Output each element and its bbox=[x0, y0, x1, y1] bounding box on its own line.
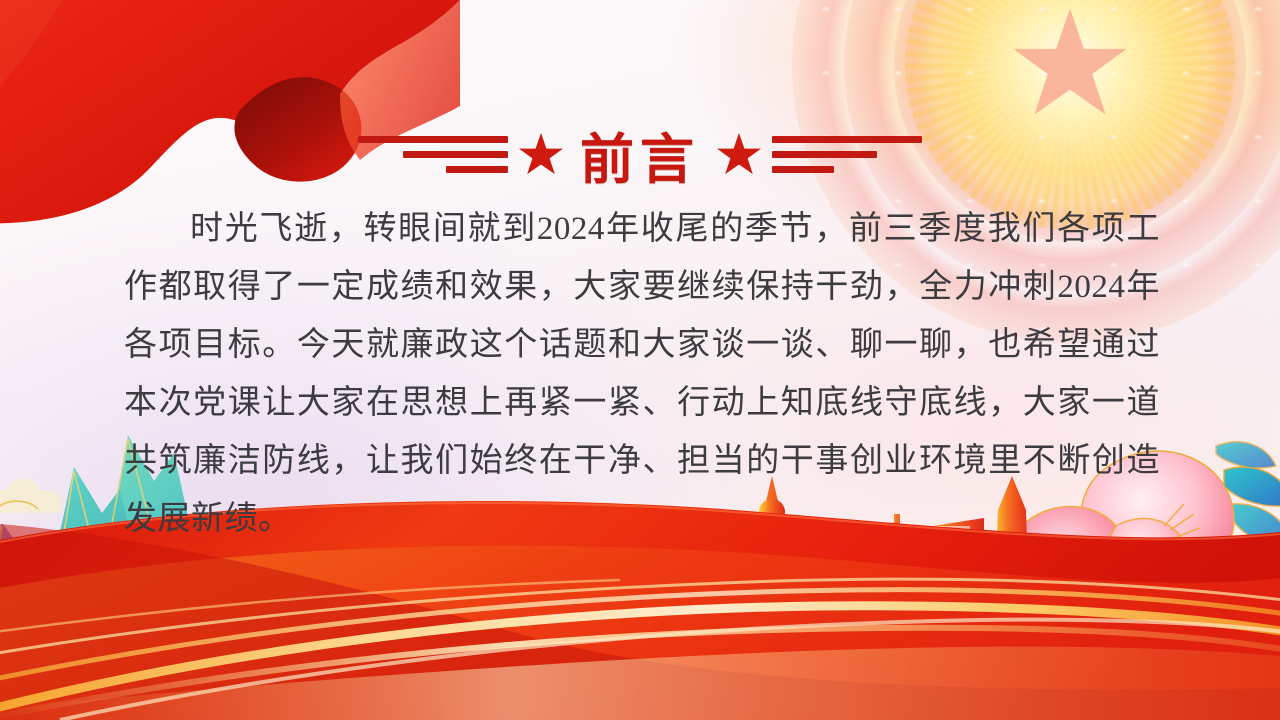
body-text-block: 时光飞逝，转眼间就到2024年收尾的季节，前三季度我们各项工作都取得了一定成绩和… bbox=[124, 200, 1160, 548]
title-left-rules bbox=[358, 136, 508, 173]
sunburst-rays-icon bbox=[905, 0, 1235, 230]
title-rule-2 bbox=[403, 151, 508, 158]
title-star-right-icon bbox=[716, 132, 762, 176]
title-star-left-icon bbox=[518, 132, 564, 176]
title-right-rules bbox=[772, 136, 922, 173]
page-title: 前言 bbox=[580, 115, 700, 194]
foreword-paragraph: 时光飞逝，转眼间就到2024年收尾的季节，前三季度我们各项工作都取得了一定成绩和… bbox=[124, 200, 1160, 548]
title-rule-3 bbox=[446, 166, 508, 173]
title-rule-4 bbox=[772, 136, 922, 143]
emblem-star-icon bbox=[1011, 6, 1129, 120]
section-title: 前言 bbox=[0, 118, 1280, 190]
title-rule-6 bbox=[772, 166, 834, 173]
peony-leaves bbox=[1216, 442, 1280, 548]
title-rule-1 bbox=[358, 136, 508, 143]
slide-canvas: 前言 时光飞逝，转眼间就到2024年收尾的季节，前三季度我们各项工作都取得了一定… bbox=[0, 0, 1280, 720]
title-rule-5 bbox=[772, 151, 877, 158]
